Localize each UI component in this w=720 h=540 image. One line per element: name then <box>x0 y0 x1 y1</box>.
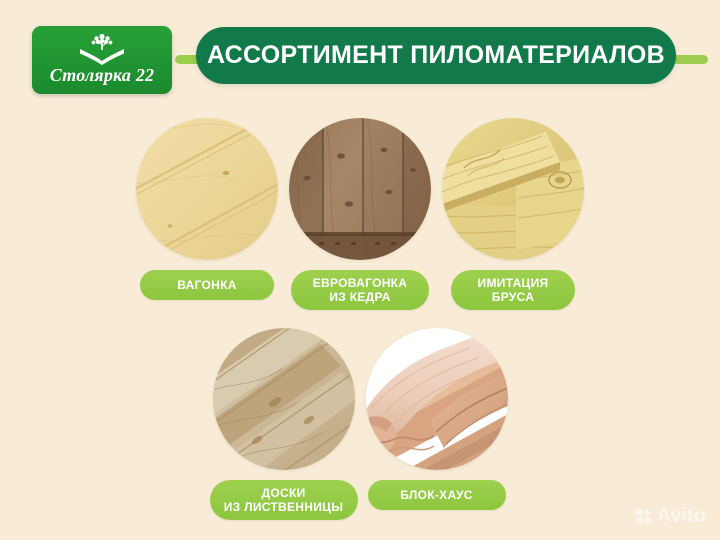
connector-bar-right <box>672 55 708 64</box>
product-card-vagonka[interactable]: ВАГОНКА <box>133 118 281 310</box>
company-logo: Столярка 22 <box>32 26 172 94</box>
product-card-imitaciya-brusa[interactable]: ИМИТАЦИЯ БРУСА <box>439 118 587 310</box>
avito-wordmark: Avito <box>657 506 706 526</box>
page-title: АССОРТИМЕНТ ПИЛОМАТЕРИАЛОВ <box>207 41 665 70</box>
product-label-blok-haus: БЛОК-ХАУС <box>368 480 506 510</box>
poster-canvas: Столярка 22 АССОРТИМЕНТ ПИЛОМАТЕРИАЛОВ <box>0 0 720 540</box>
product-card-evrovagonka-kedr[interactable]: ЕВРОВАГОНКА ИЗ КЕДРА <box>286 118 434 310</box>
product-image-vagonka <box>136 118 278 260</box>
avito-dots-icon <box>633 506 653 526</box>
tree-icon <box>75 29 129 65</box>
product-label-doski-listvennica: ДОСКИ ИЗ ЛИСТВЕННИЦЫ <box>210 480 358 520</box>
product-label-imitaciya-brusa: ИМИТАЦИЯ БРУСА <box>451 270 575 310</box>
product-image-evrovagonka-kedr <box>289 118 431 260</box>
product-card-doski-listvennica[interactable]: ДОСКИ ИЗ ЛИСТВЕННИЦЫ <box>210 328 358 520</box>
product-image-blok-haus <box>366 328 508 470</box>
product-label-vagonka: ВАГОНКА <box>140 270 274 300</box>
product-card-blok-haus[interactable]: БЛОК-ХАУС <box>363 328 511 520</box>
product-image-imitaciya-brusa <box>442 118 584 260</box>
avito-watermark: Avito <box>633 506 706 526</box>
logo-wordmark: Столярка 22 <box>50 66 154 84</box>
product-label-evrovagonka-kedr: ЕВРОВАГОНКА ИЗ КЕДРА <box>291 270 429 310</box>
product-row-2: ДОСКИ ИЗ ЛИСТВЕННИЦЫ <box>0 328 720 520</box>
product-row-1: ВАГОНКА <box>0 118 720 310</box>
product-image-doski-listvennica <box>213 328 355 470</box>
header-banner: АССОРТИМЕНТ ПИЛОМАТЕРИАЛОВ <box>196 27 676 84</box>
